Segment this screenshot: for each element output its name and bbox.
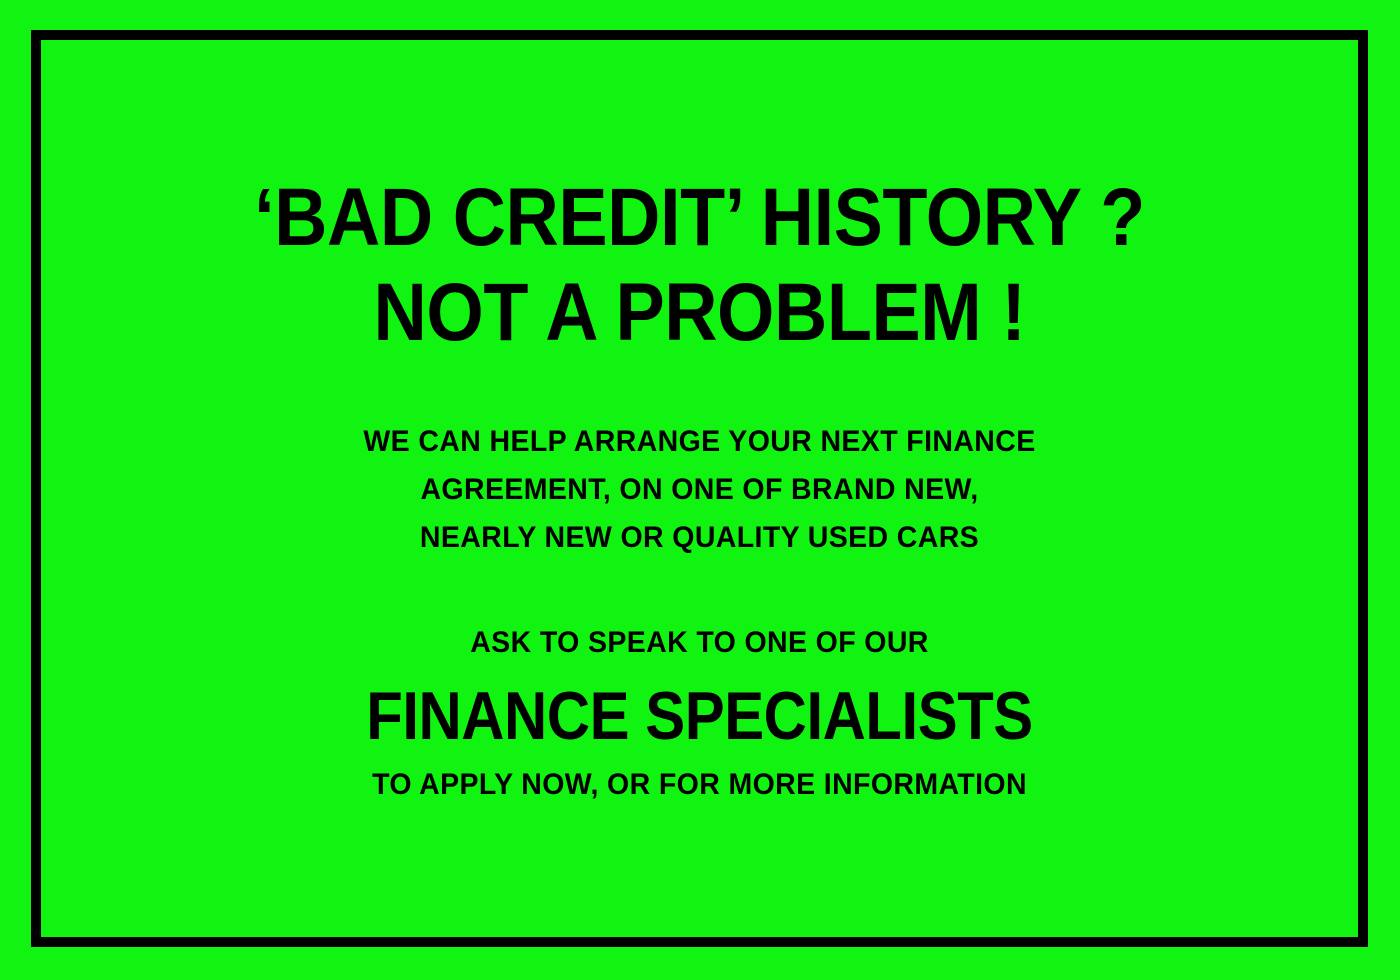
- body-copy-line-1: WE CAN HELP ARRANGE YOUR NEXT FINANCE: [74, 418, 1325, 466]
- body-copy-line-3: NEARLY NEW OR QUALITY USED CARS: [74, 514, 1325, 562]
- body-copy-block: WE CAN HELP ARRANGE YOUR NEXT FINANCE AG…: [41, 418, 1358, 562]
- call-to-action-block: ASK TO SPEAK TO ONE OF OUR FINANCE SPECI…: [41, 622, 1358, 806]
- cta-intro-line: ASK TO SPEAK TO ONE OF OUR: [74, 622, 1325, 664]
- body-copy-line-2: AGREEMENT, ON ONE OF BRAND NEW,: [74, 466, 1325, 514]
- cta-headline: FINANCE SPECIALISTS: [120, 678, 1279, 754]
- advertisement-poster: ‘BAD CREDIT’ HISTORY ? NOT A PROBLEM ! W…: [0, 0, 1400, 980]
- headline-line-2: NOT A PROBLEM !: [107, 265, 1292, 360]
- poster-content: ‘BAD CREDIT’ HISTORY ? NOT A PROBLEM ! W…: [41, 40, 1358, 937]
- cta-footer-line: TO APPLY NOW, OR FOR MORE INFORMATION: [74, 764, 1325, 806]
- headline-line-1: ‘BAD CREDIT’ HISTORY ?: [107, 170, 1292, 265]
- headline-block: ‘BAD CREDIT’ HISTORY ? NOT A PROBLEM !: [41, 170, 1358, 360]
